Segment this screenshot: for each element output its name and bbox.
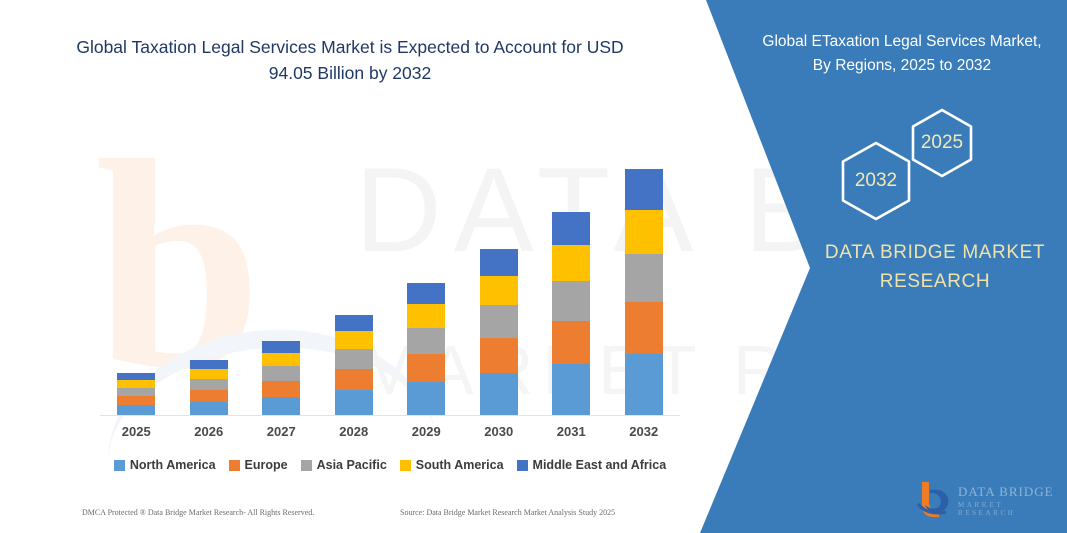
bar-segment: [190, 379, 228, 390]
bar-segment: [117, 388, 155, 396]
bar-segment: [117, 373, 155, 380]
legend-swatch: [114, 460, 125, 471]
legend-label: Asia Pacific: [317, 458, 387, 472]
bar-2027: [262, 341, 300, 415]
bar-segment: [262, 353, 300, 366]
footer-copyright: DMCA Protected ® Data Bridge Market Rese…: [82, 508, 314, 517]
legend-swatch: [517, 460, 528, 471]
x-tick-2030: 2030: [469, 424, 529, 439]
bar-segment: [117, 396, 155, 405]
bar-2026: [190, 360, 228, 415]
x-tick-2028: 2028: [324, 424, 384, 439]
bar-segment: [552, 212, 590, 245]
bar-segment: [625, 302, 663, 354]
bar-2030: [480, 249, 518, 415]
bar-segment: [117, 405, 155, 415]
brand-name: DATA BRIDGE MARKET RESEARCH: [790, 238, 1067, 297]
bar-segment: [190, 369, 228, 379]
x-tick-2026: 2026: [179, 424, 239, 439]
hexagon-2032-label: 2032: [855, 170, 897, 192]
bar-segment: [625, 169, 663, 210]
bar-segment: [190, 402, 228, 415]
bar-segment: [407, 382, 445, 415]
panel-title: Global ETaxation Legal Services Market, …: [757, 30, 1047, 78]
legend-swatch: [301, 460, 312, 471]
bar-segment: [407, 354, 445, 382]
legend-swatch: [229, 460, 240, 471]
bar-segment: [335, 349, 373, 369]
bar-segment: [190, 360, 228, 369]
hexagon-badge-2032: 2032: [835, 140, 917, 222]
bar-segment: [552, 321, 590, 365]
legend-item[interactable]: Europe: [229, 458, 288, 472]
hexagon-badge-2025: 2025: [906, 107, 978, 179]
bar-segment: [117, 380, 155, 388]
bar-segment: [625, 354, 663, 415]
dbmr-logo-icon: [916, 478, 956, 520]
legend-item[interactable]: Asia Pacific: [301, 458, 387, 472]
bar-2031: [552, 212, 590, 415]
bar-segment: [407, 304, 445, 327]
bar-segment: [480, 276, 518, 306]
chart-x-axis: 20252026202720282029203020312032: [100, 424, 680, 444]
legend-swatch: [400, 460, 411, 471]
stacked-bar-chart: [100, 120, 680, 416]
hexagon-2025-label: 2025: [921, 132, 963, 154]
legend-label: North America: [130, 458, 216, 472]
legend-label: Middle East and Africa: [533, 458, 667, 472]
bar-segment: [480, 305, 518, 337]
legend-item[interactable]: Middle East and Africa: [517, 458, 667, 472]
bar-2028: [335, 315, 373, 415]
bar-2029: [407, 283, 445, 415]
legend-label: South America: [416, 458, 504, 472]
bar-segment: [335, 369, 373, 390]
brand-line-2: RESEARCH: [790, 267, 1067, 296]
chart-legend: North AmericaEuropeAsia PacificSouth Ame…: [100, 455, 680, 475]
x-tick-2029: 2029: [396, 424, 456, 439]
bar-segment: [262, 341, 300, 353]
legend-label: Europe: [245, 458, 288, 472]
bar-segment: [625, 254, 663, 301]
legend-item[interactable]: South America: [400, 458, 504, 472]
legend-item[interactable]: North America: [114, 458, 216, 472]
bar-segment: [262, 381, 300, 397]
x-tick-2032: 2032: [614, 424, 674, 439]
company-logo: DATA BRIDGE MARKET RESEARCH: [916, 478, 1056, 524]
footer-source: Source: Data Bridge Market Research Mark…: [400, 508, 615, 517]
bar-segment: [480, 249, 518, 276]
bar-segment: [480, 373, 518, 415]
bar-segment: [552, 281, 590, 320]
brand-line-1: DATA BRIDGE MARKET: [790, 238, 1067, 267]
infographic-canvas: b DATA BRIDGE MARKET RESEARCH Global Tax…: [0, 0, 1067, 533]
bar-2032: [625, 169, 663, 415]
chart-baseline: [100, 415, 680, 416]
bar-segment: [335, 390, 373, 415]
bar-2025: [117, 373, 155, 415]
bar-segment: [335, 331, 373, 349]
bar-segment: [407, 328, 445, 354]
bar-segment: [625, 210, 663, 254]
bar-segment: [190, 390, 228, 402]
bar-segment: [552, 364, 590, 415]
headline: Global Taxation Legal Services Market is…: [60, 34, 640, 87]
bar-segment: [552, 245, 590, 281]
x-tick-2031: 2031: [541, 424, 601, 439]
bar-segment: [335, 315, 373, 331]
bar-segment: [262, 397, 300, 415]
logo-text-secondary: MARKET RESEARCH: [958, 501, 1056, 517]
x-tick-2027: 2027: [251, 424, 311, 439]
logo-text-primary: DATA BRIDGE: [958, 484, 1054, 500]
bar-segment: [262, 366, 300, 381]
x-tick-2025: 2025: [106, 424, 166, 439]
bar-segment: [480, 338, 518, 374]
bar-segment: [407, 283, 445, 305]
